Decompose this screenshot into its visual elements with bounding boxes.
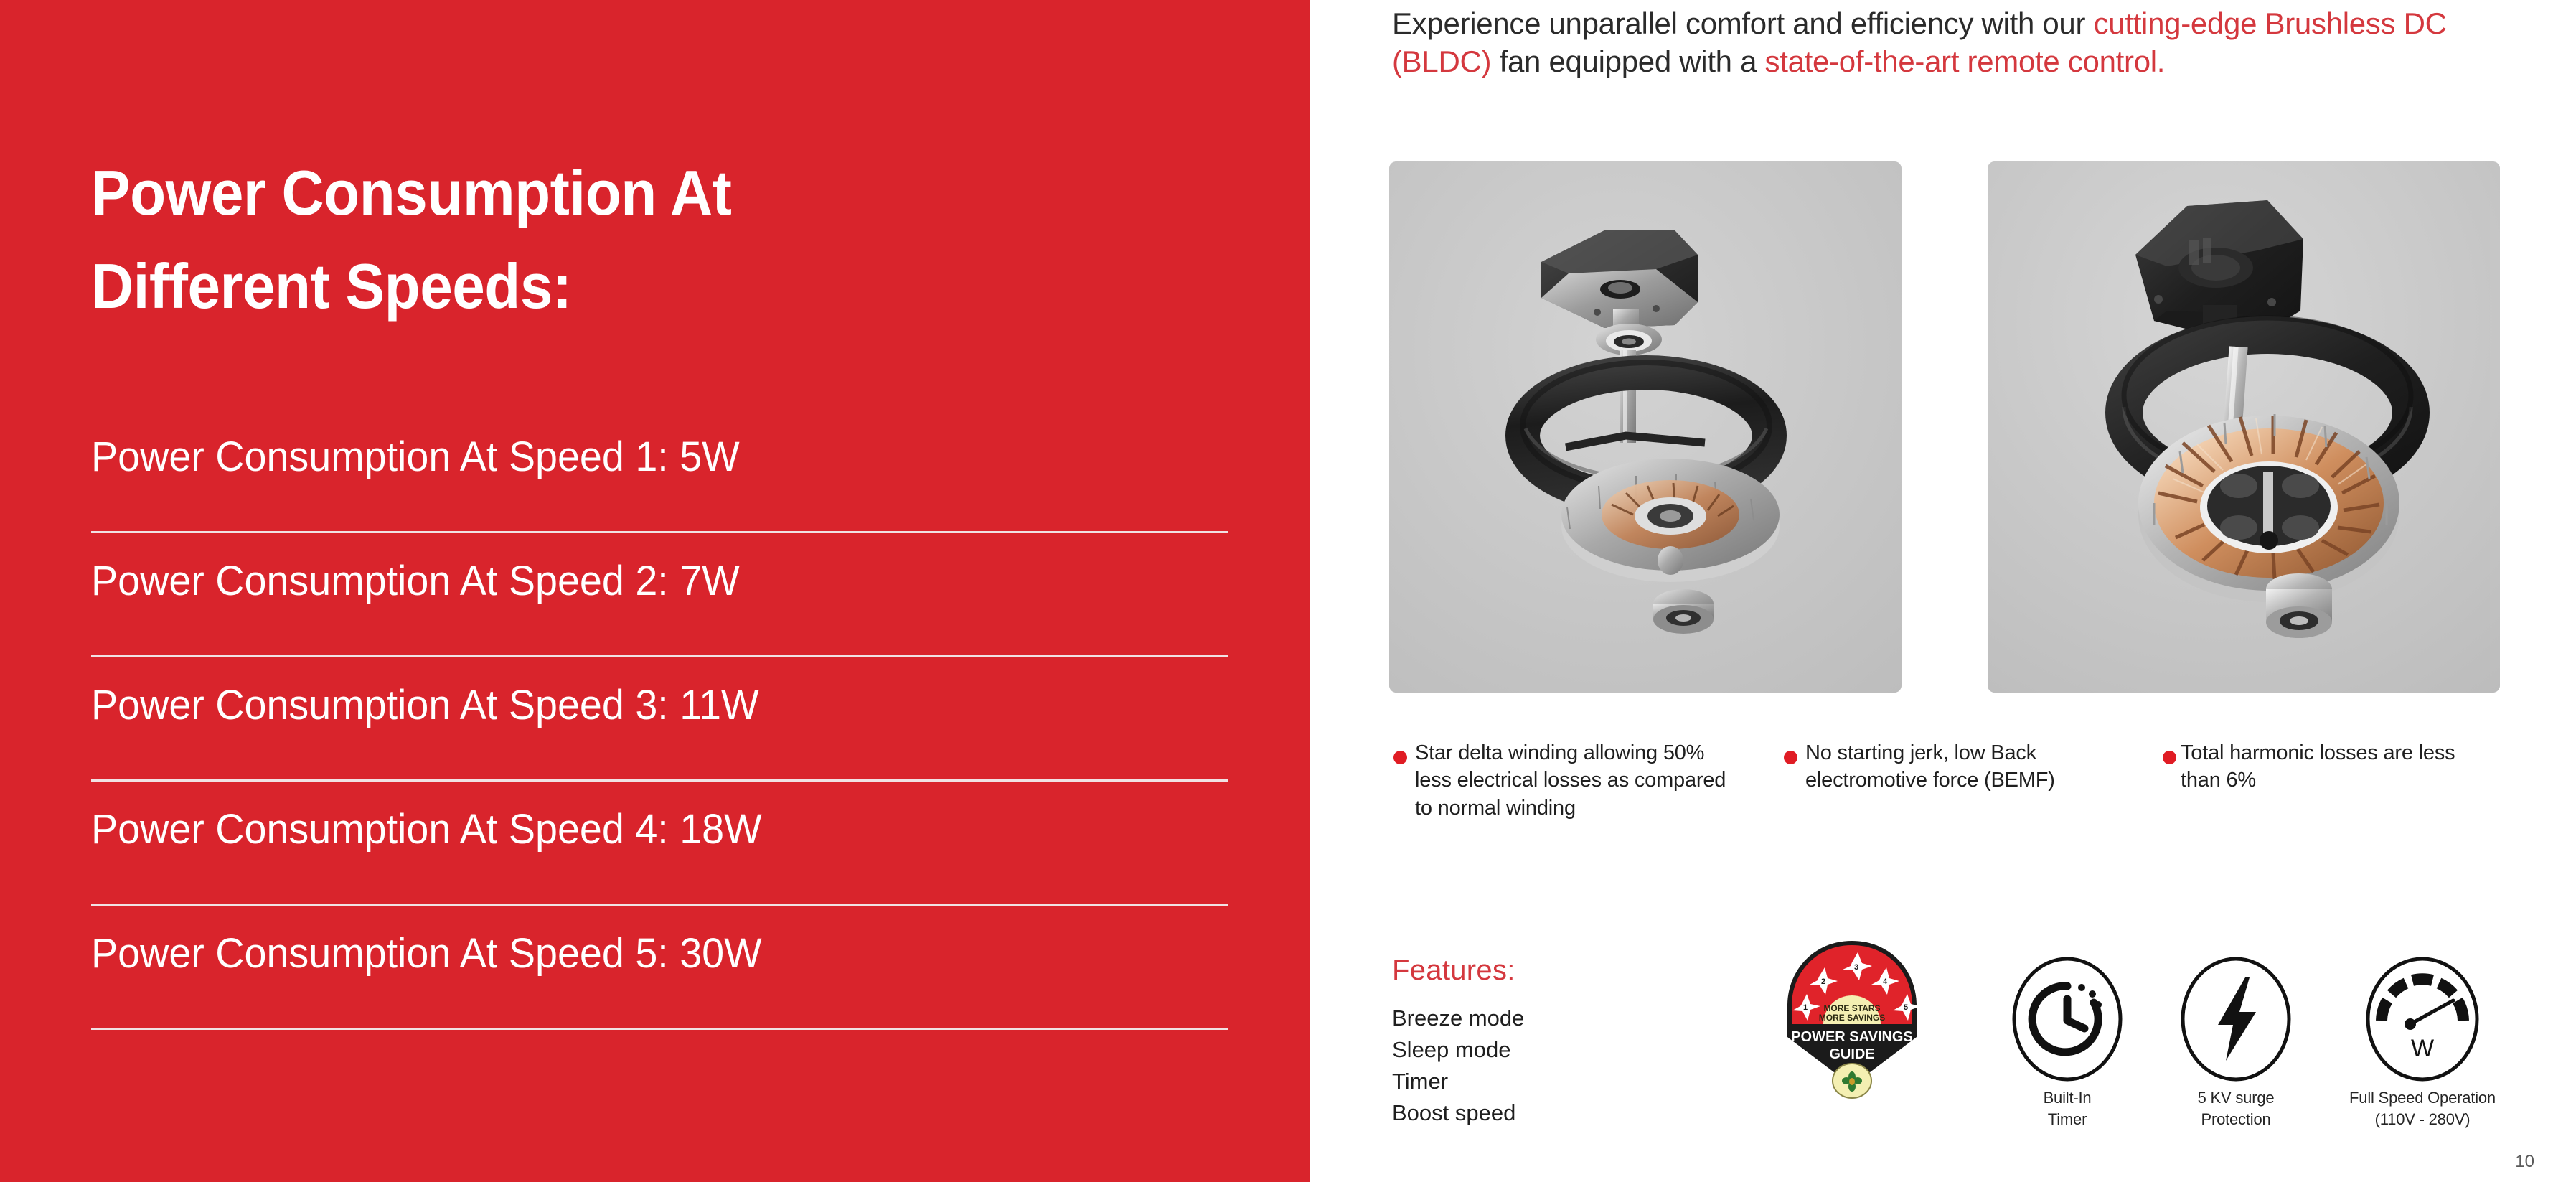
bullet-text-1: Star delta winding allowing 50% less ele… — [1415, 739, 1745, 822]
speedometer-icon: W — [2318, 951, 2526, 1087]
speedometer-gauge-glyph: W — [2361, 956, 2483, 1082]
bee-arc-line-1: MORE STARS — [1823, 1003, 1880, 1013]
intro-paragraph: Experience unparallel comfort and effici… — [1392, 5, 2483, 81]
list-item: Power Consumption At Speed 2: 7W — [0, 560, 1310, 685]
bee-star-number-2: 2 — [1821, 977, 1825, 986]
divider — [91, 1028, 1228, 1030]
speed-4-label: Power Consumption At Speed 4: 18W — [91, 809, 762, 850]
right-content-panel: Experience unparallel comfort and effici… — [1310, 0, 2576, 1182]
list-item: Power Consumption At Speed 3: 11W — [0, 685, 1310, 809]
product-image-bldc-motor-stator-view — [1988, 161, 2500, 693]
bee-star-number-3: 3 — [1854, 963, 1858, 972]
divider — [91, 904, 1228, 906]
badge-caption-timer-line-1: Built-In — [1985, 1087, 2150, 1109]
bee-band-line-2: GUIDE — [1829, 1046, 1874, 1062]
speed-5-label: Power Consumption At Speed 5: 30W — [91, 933, 762, 975]
badge-full-speed-operation: W Full Speed Operation (110V - 280V) — [2318, 951, 2526, 1130]
speedometer-unit-label: W — [2411, 1035, 2434, 1062]
feature-bullets: Star delta winding allowing 50% less ele… — [1310, 739, 2576, 876]
bldc-motor-exploded-illustration — [1389, 161, 1902, 693]
bldc-motor-stator-illustration — [1988, 161, 2500, 693]
divider — [91, 655, 1228, 657]
page-number: 10 — [2515, 1152, 2534, 1172]
lightning-bolt-glyph — [2178, 956, 2293, 1082]
bullet-text-2: No starting jerk, low Back electromotive… — [1805, 739, 2128, 794]
list-item: Power Consumption At Speed 5: 30W — [0, 933, 1310, 1057]
badge-caption-fullspeed-line-2: (110V - 280V) — [2318, 1109, 2526, 1130]
bullet-dot-icon — [1393, 751, 1407, 764]
bee-star-number-4: 4 — [1883, 977, 1888, 986]
badge-built-in-timer: Built-In Timer — [1985, 951, 2150, 1130]
badge-caption-fullspeed-line-1: Full Speed Operation — [2318, 1087, 2526, 1109]
badge-caption-timer-line-2: Timer — [1985, 1109, 2150, 1130]
badge-bee-power-savings-guide: MORE STARS MORE SAVINGS 1 2 3 — [1769, 951, 1935, 1087]
divider — [91, 531, 1228, 533]
badge-caption-surge-line-1: 5 KV surge — [2153, 1087, 2318, 1109]
badge-surge-protection: 5 KV surge Protection — [2153, 951, 2318, 1130]
page-title-line-1: Power Consumption At — [91, 161, 1172, 225]
product-image-bldc-motor-exploded-view — [1389, 161, 1902, 693]
lightning-bolt-icon — [2153, 951, 2318, 1087]
bee-power-savings-guide-icon: MORE STARS MORE SAVINGS 1 2 3 — [1769, 951, 1935, 1087]
bee-arc-line-2: MORE SAVINGS — [1819, 1013, 1885, 1023]
list-item: Power Consumption At Speed 1: 5W — [0, 436, 1310, 560]
bullet-item: No starting jerk, low Back electromotive… — [1784, 739, 2128, 794]
bullet-item: Total harmonic losses are less than 6% — [2163, 739, 2486, 794]
bullet-item: Star delta winding allowing 50% less ele… — [1393, 739, 1745, 822]
intro-text-part-2: fan equipped with a — [1491, 44, 1764, 78]
speed-1-label: Power Consumption At Speed 1: 5W — [91, 436, 740, 478]
left-red-panel: Power Consumption At Different Speeds: P… — [0, 0, 1310, 1182]
bee-star-label-icon: MORE STARS MORE SAVINGS 1 2 3 — [1780, 937, 1924, 1102]
bullet-dot-icon — [1784, 751, 1797, 764]
badge-caption-surge: 5 KV surge Protection — [2153, 1087, 2318, 1130]
certification-badges-row: MORE STARS MORE SAVINGS 1 2 3 — [1310, 951, 2576, 1152]
page-title: Power Consumption At Different Speeds: — [91, 161, 1172, 318]
power-consumption-list: Power Consumption At Speed 1: 5W Power C… — [0, 436, 1310, 1057]
speed-2-label: Power Consumption At Speed 2: 7W — [91, 560, 740, 602]
intro-accent-2: state-of-the-art remote control. — [1765, 44, 2166, 78]
slide-root: Power Consumption At Different Speeds: P… — [0, 0, 2576, 1182]
badge-caption-fullspeed: Full Speed Operation (110V - 280V) — [2318, 1087, 2526, 1130]
page-title-line-2: Different Speeds: — [91, 255, 1172, 318]
badge-caption-timer: Built-In Timer — [1985, 1087, 2150, 1130]
bullet-text-3: Total harmonic losses are less than 6% — [2181, 739, 2486, 794]
speed-3-label: Power Consumption At Speed 3: 11W — [91, 685, 759, 726]
bee-star-number-1: 1 — [1803, 1003, 1808, 1012]
timer-clock-glyph — [2010, 956, 2125, 1082]
divider — [91, 779, 1228, 782]
bee-star-number-5: 5 — [1904, 1003, 1908, 1012]
badge-caption-surge-line-2: Protection — [2153, 1109, 2318, 1130]
bee-band-line-1: POWER SAVINGS — [1791, 1029, 1913, 1045]
list-item: Power Consumption At Speed 4: 18W — [0, 809, 1310, 933]
timer-clock-icon — [1985, 951, 2150, 1087]
bullet-dot-icon — [2163, 751, 2176, 764]
intro-text-part-1: Experience unparallel comfort and effici… — [1392, 6, 2094, 40]
